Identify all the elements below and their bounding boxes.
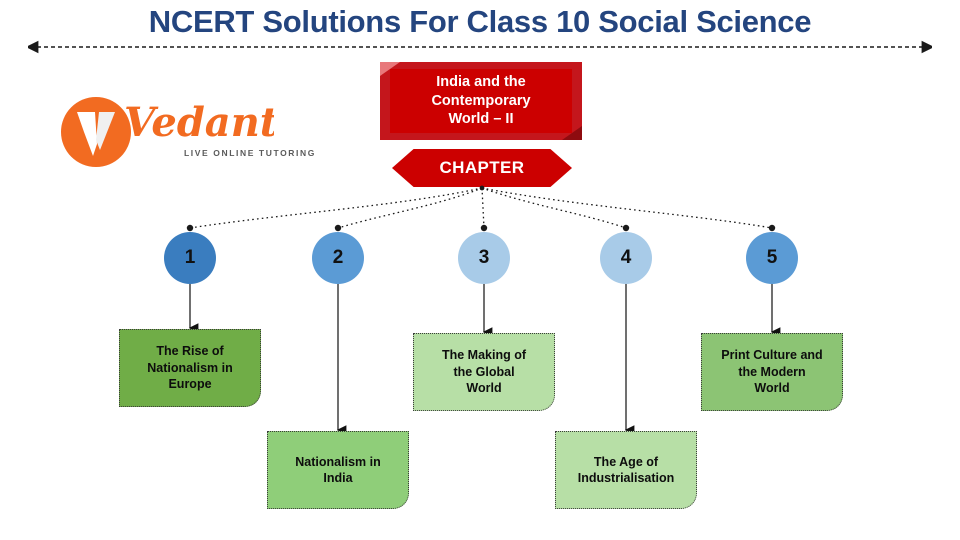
topic-box-3[interactable]: The Making of the Global World [413,333,555,411]
node-circle-3[interactable]: 3 [458,232,510,284]
dashed-arrow-divider [28,36,932,58]
svg-text:Vedantu: Vedantu [124,99,274,146]
node-circle-1[interactable]: 1 [164,232,216,284]
vedantu-v-mark-icon [60,96,132,168]
vedantu-wordmark-icon: Vedantu [124,96,274,152]
topic-box-5[interactable]: Print Culture and the Modern World [701,333,843,411]
node-circle-2-number: 2 [333,247,344,269]
vedantu-tagline: LIVE ONLINE TUTORING [184,148,316,158]
node-circle-3-number: 3 [479,247,490,269]
node-circle-1-number: 1 [185,247,196,269]
topic-box-1[interactable]: The Rise of Nationalism in Europe [119,329,261,407]
chapter-banner: CHAPTER [392,149,572,187]
diagram-canvas: NCERT Solutions For Class 10 Social Scie… [0,0,960,540]
root-subject-label: India and the Contemporary World – II [431,73,530,129]
node-circle-2[interactable]: 2 [312,232,364,284]
vedantu-logo: Vedantu LIVE ONLINE TUTORING [60,96,272,170]
page-title: NCERT Solutions For Class 10 Social Scie… [0,4,960,40]
topic-box-4[interactable]: The Age of Industrialisation [555,431,697,509]
chapter-banner-label: CHAPTER [392,149,572,187]
node-circle-4-number: 4 [621,247,632,269]
root-box-face: India and the Contemporary World – II [390,69,572,133]
node-circle-5[interactable]: 5 [746,232,798,284]
node-circle-4[interactable]: 4 [600,232,652,284]
topic-box-2[interactable]: Nationalism in India [267,431,409,509]
root-subject-box: India and the Contemporary World – II [380,62,582,140]
node-circle-5-number: 5 [767,247,778,269]
